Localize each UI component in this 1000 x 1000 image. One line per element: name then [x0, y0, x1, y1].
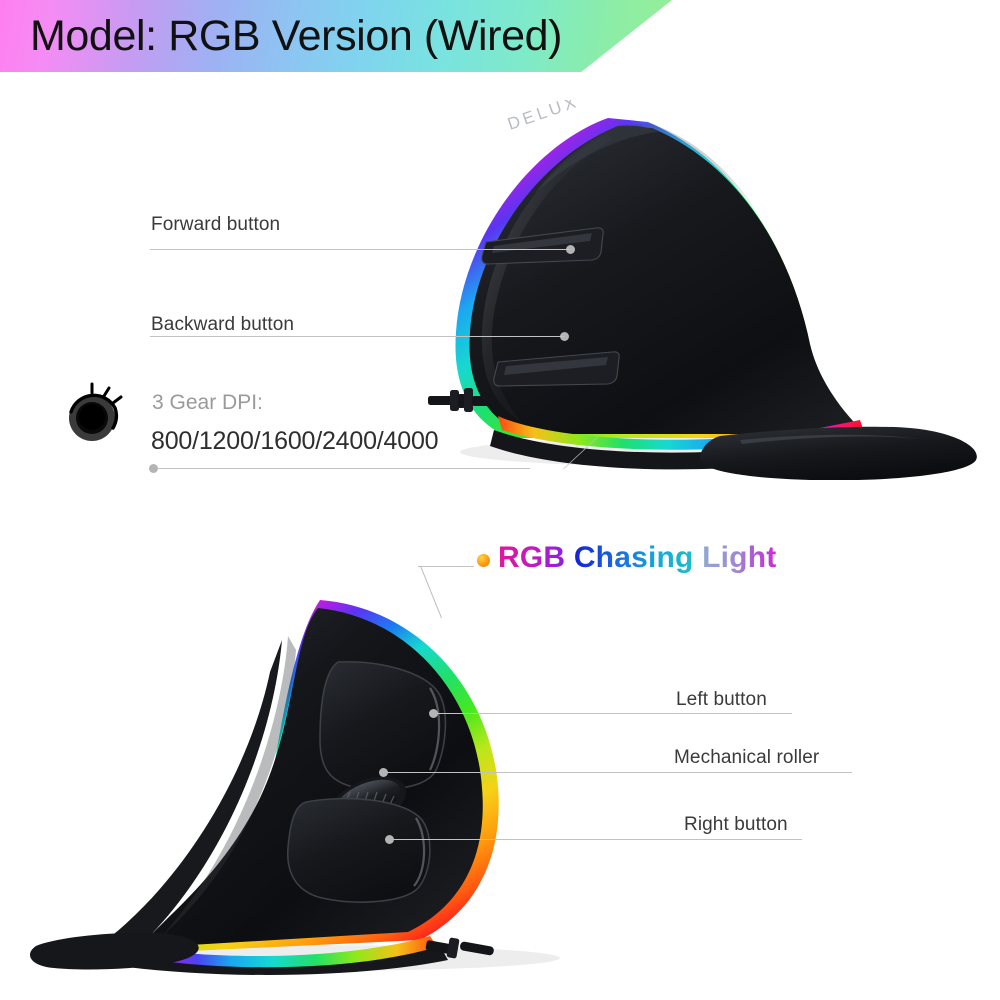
- dpi-dial-icon: [63, 382, 125, 444]
- right-button-leader-line: [393, 839, 802, 840]
- dpi-heading: 3 Gear DPI:: [152, 391, 263, 415]
- brand-logo-top: DELUX: [505, 100, 581, 134]
- rgb-title-part-rgb: RGB: [498, 541, 565, 574]
- rgb-title-part-chasing: Chasing: [574, 541, 694, 574]
- page-title: Model: RGB Version (Wired): [30, 6, 562, 66]
- label-mechanical-roller: Mechanical roller: [674, 747, 819, 769]
- label-backward-button: Backward button: [151, 314, 294, 336]
- label-right-button: Right button: [684, 814, 788, 836]
- label-left-button: Left button: [676, 689, 767, 711]
- rgb-headline-leader-line: [418, 566, 474, 567]
- mouse-side-view-image: DELUX: [390, 100, 990, 480]
- label-forward-button: Forward button: [151, 214, 280, 236]
- dpi-leader-line: [157, 468, 530, 469]
- forward-button-leader-line: [150, 249, 570, 250]
- rgb-chasing-light-bullet: [477, 554, 490, 567]
- backward-button-leader-line: [150, 336, 564, 337]
- dpi-values: 800/1200/1600/2400/4000: [151, 427, 438, 456]
- rgb-chasing-light-title: RGB Chasing Light: [498, 541, 776, 575]
- left-button-leader-line: [437, 713, 792, 714]
- rgb-title-part-light: Light: [702, 541, 776, 574]
- mouse-front-view-image: [20, 580, 600, 980]
- right-button-shape: [288, 799, 430, 903]
- mechanical-roller-leader-line: [387, 772, 852, 773]
